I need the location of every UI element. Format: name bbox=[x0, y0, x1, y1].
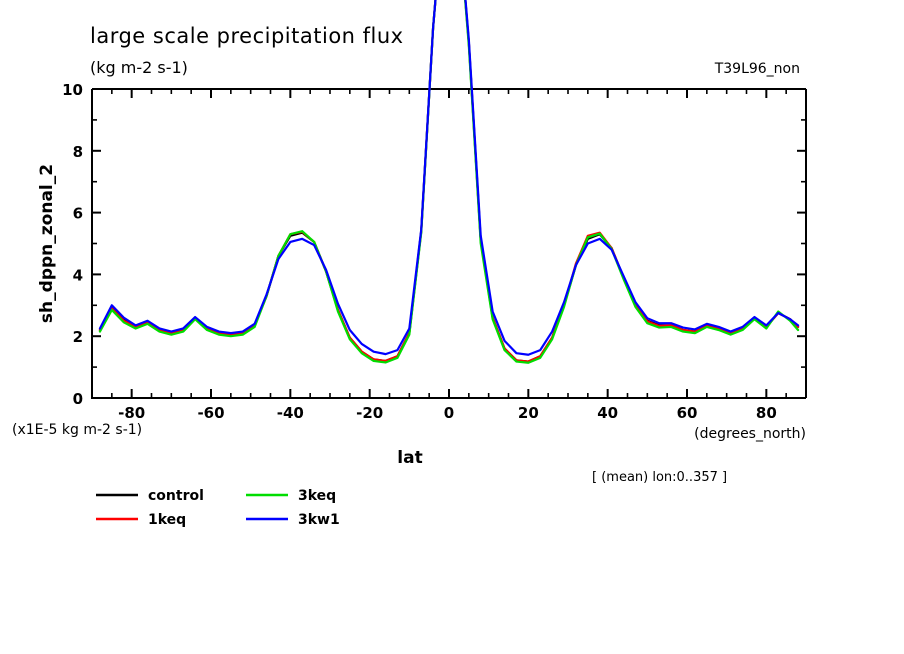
chart-units-subtitle: (kg m-2 s-1) bbox=[90, 58, 188, 77]
x-tick-label: 0 bbox=[444, 404, 454, 422]
series-line-1keq bbox=[100, 0, 798, 362]
x-tick-label: -80 bbox=[118, 404, 145, 422]
legend-label-control: control bbox=[148, 488, 204, 504]
chart-title: large scale precipitation flux bbox=[90, 24, 404, 48]
legend-label-3keq: 3keq bbox=[298, 488, 336, 504]
mean-note: [ (mean) lon:0..357 ] bbox=[592, 470, 727, 485]
y-tick-label: 10 bbox=[62, 81, 83, 99]
x-tick-label: -20 bbox=[356, 404, 383, 422]
y-tick-label: 6 bbox=[73, 205, 83, 223]
y-tick-label: 4 bbox=[73, 266, 83, 284]
x-tick-label: 40 bbox=[597, 404, 618, 422]
x-tick-label: 60 bbox=[677, 404, 698, 422]
legend-label-3kw1: 3kw1 bbox=[298, 512, 340, 528]
x-tick-label: -40 bbox=[277, 404, 304, 422]
x-axis-units: (degrees_north) bbox=[694, 426, 806, 442]
y-axis-units: (x1E-5 kg m-2 s-1) bbox=[12, 422, 142, 438]
series-line-control bbox=[100, 0, 798, 362]
y-axis-title: sh_dppn_zonal_2 bbox=[37, 164, 57, 323]
plot-figure: large scale precipitation flux(kg m-2 s-… bbox=[0, 0, 904, 654]
series-line-3kw1 bbox=[100, 0, 798, 355]
x-tick-label: 80 bbox=[756, 404, 777, 422]
y-tick-label: 8 bbox=[73, 143, 83, 161]
x-axis-title: lat bbox=[397, 448, 422, 468]
y-tick-label: 0 bbox=[73, 390, 83, 408]
x-tick-label: 20 bbox=[518, 404, 539, 422]
series-line-3keq bbox=[100, 0, 798, 363]
y-tick-label: 2 bbox=[73, 328, 83, 346]
axis-frame-left-bottom bbox=[92, 89, 806, 398]
x-tick-label: -60 bbox=[197, 404, 224, 422]
series-group bbox=[100, 0, 798, 363]
legend-label-1keq: 1keq bbox=[148, 512, 186, 528]
experiment-tag: T39L96_non bbox=[714, 61, 800, 77]
